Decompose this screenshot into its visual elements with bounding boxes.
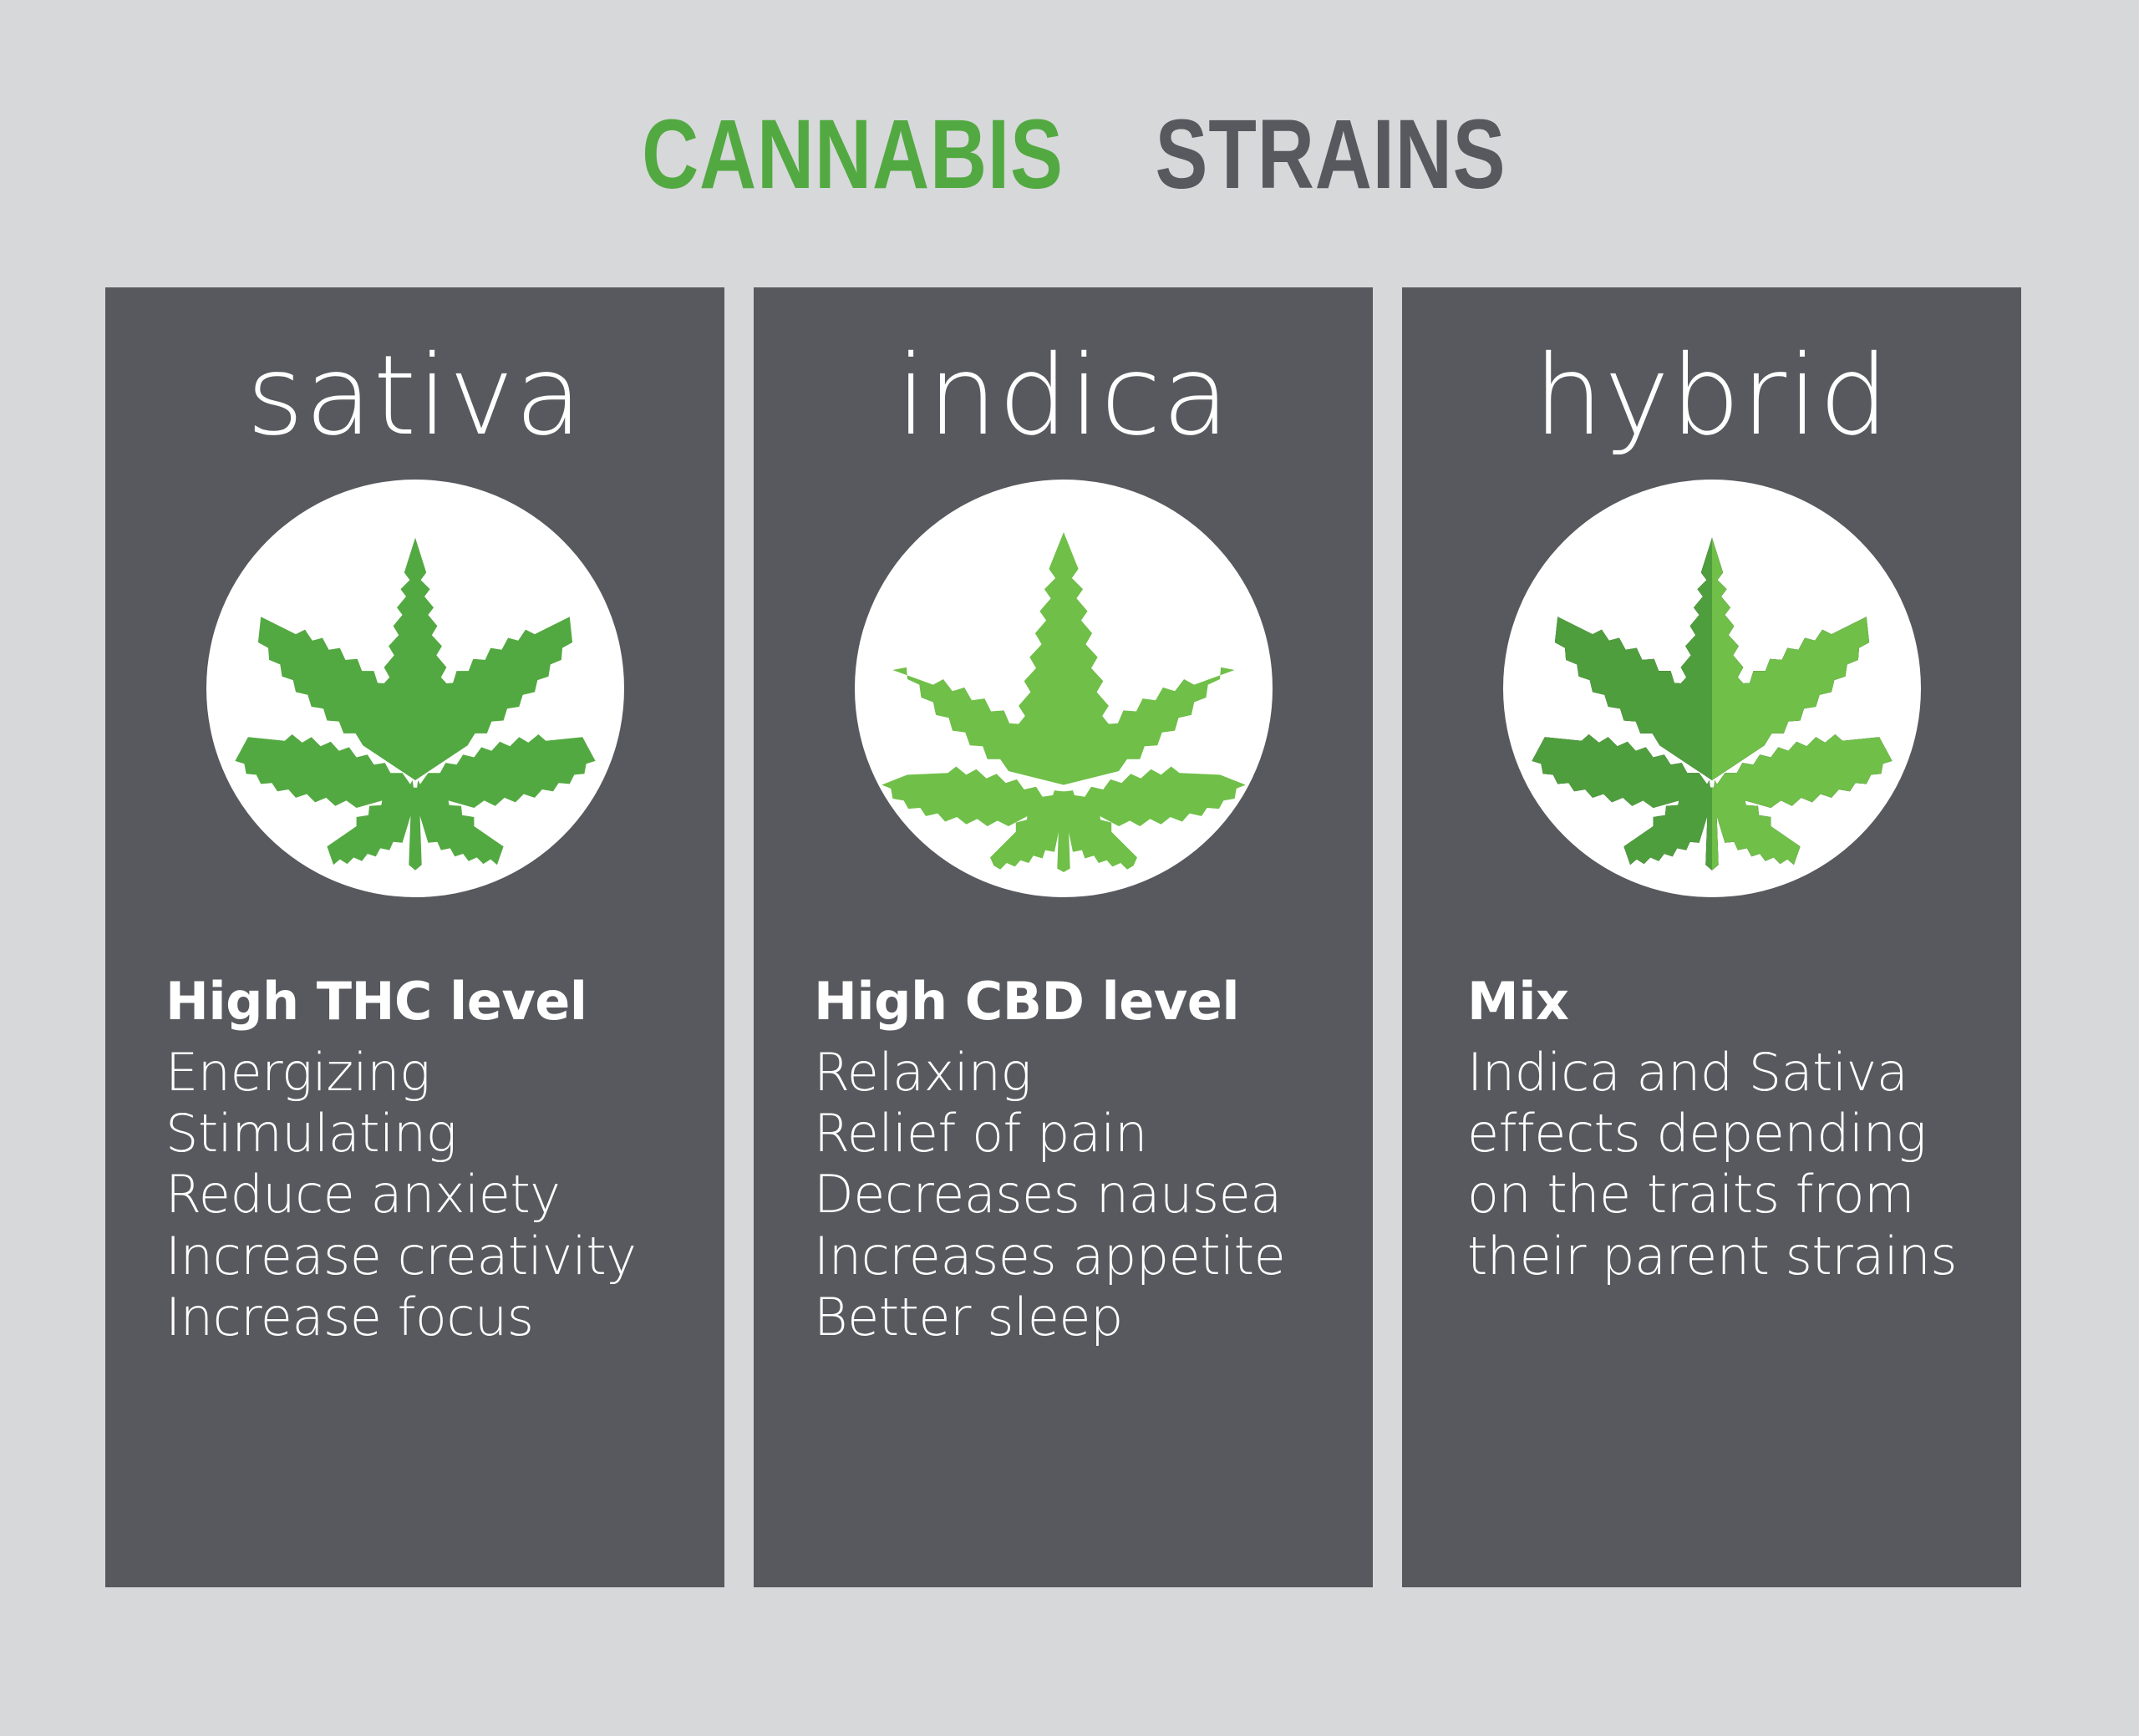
cannabis-leaf-icon: [231, 505, 599, 872]
cannabis-leaf-icon: [1528, 505, 1896, 872]
leaf-circle-hybrid: [1503, 480, 1921, 897]
title-word-cannabis: CANNABIS: [642, 105, 1064, 204]
strain-effect-line: Stimulating: [165, 1103, 724, 1164]
strain-heading-sativa: sativa: [246, 341, 583, 451]
cannabis-leaf-icon: [880, 505, 1247, 872]
strain-effect-line: Increases appetite: [814, 1226, 1373, 1287]
strain-effect-paragraph: Indica and Sativa effects depending on t…: [1467, 1042, 1988, 1287]
strain-effect-line: Decreases nausea: [814, 1164, 1373, 1225]
strain-body-indica: High CBD level Relaxing Relief of pain D…: [754, 974, 1373, 1348]
strain-effect-line: Relief of pain: [814, 1103, 1373, 1164]
strain-body-title-indica: High CBD level: [814, 974, 1373, 1028]
strain-effect-line: Relaxing: [814, 1042, 1373, 1103]
strain-panels: sativa: [105, 287, 2021, 1587]
strain-body-title-sativa: High THC level: [165, 974, 724, 1028]
strain-effect-line: Energizing: [165, 1042, 724, 1103]
leaf-circle-sativa: [206, 480, 624, 897]
strain-heading-hybrid: hybrid: [1533, 341, 1889, 451]
strain-effect-line: Better sleep: [814, 1287, 1373, 1348]
strain-body-title-hybrid: Mix: [1467, 974, 1988, 1028]
title-word-strains: STRAINS: [1155, 105, 1506, 204]
page-title: CANNABISSTRAINS: [0, 105, 2139, 204]
leaf-circle-indica: [855, 480, 1273, 897]
strain-effect-line: Increase creativity: [165, 1226, 724, 1287]
infographic-page: CANNABISSTRAINS sativa: [0, 0, 2139, 1736]
strain-effect-line: Reduce anxiety: [165, 1164, 724, 1225]
strain-panel-indica[interactable]: indica: [754, 287, 1373, 1587]
strain-effect-line: Increase focus: [165, 1287, 724, 1348]
strain-panel-sativa[interactable]: sativa: [105, 287, 724, 1587]
strain-panel-hybrid[interactable]: hybrid: [1402, 287, 2021, 1587]
strain-body-hybrid: Mix Indica and Sativa effects depending …: [1402, 974, 2021, 1287]
strain-heading-indica: indica: [896, 341, 1230, 451]
strain-body-sativa: High THC level Energizing Stimulating Re…: [105, 974, 724, 1348]
